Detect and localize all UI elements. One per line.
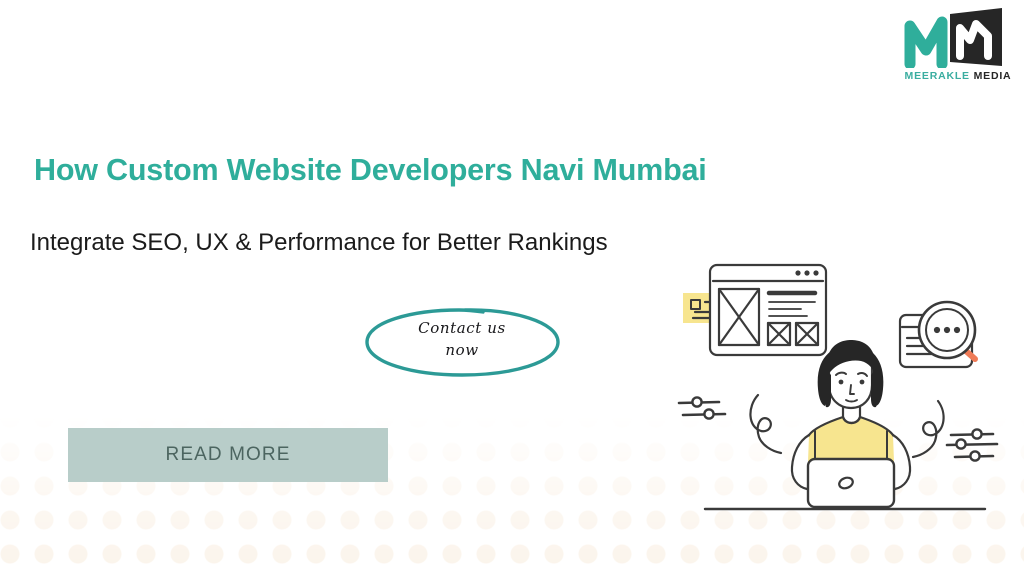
hero-illustration <box>655 245 1024 535</box>
read-more-button[interactable]: READ MORE <box>68 428 388 482</box>
page-title: How Custom Website Developers Navi Mumba… <box>34 152 884 189</box>
brand-logo[interactable]: MEERAKLE MEDIA <box>898 6 1018 82</box>
contact-badge-line1: Contact us <box>418 319 506 337</box>
brand-wordmark-primary: MEERAKLE <box>905 70 970 82</box>
brand-wordmark-secondary: MEDIA <box>974 70 1012 82</box>
browser-wireframe-icon <box>710 265 826 355</box>
meerakle-m-monogram-icon <box>898 6 1008 68</box>
contact-us-badge[interactable]: Contact us now <box>362 306 562 378</box>
page-subtitle: Integrate SEO, UX & Performance for Bett… <box>30 224 620 261</box>
slider-controls-left-icon <box>679 397 725 418</box>
slider-controls-right-icon <box>947 429 997 460</box>
search-magnifier-card-icon <box>900 302 975 367</box>
contact-us-badge-text: Contact us now <box>362 318 562 362</box>
contact-badge-line2: now <box>445 341 478 359</box>
decorative-swoosh-right-icon <box>913 401 944 457</box>
decorative-swoosh-left-icon <box>750 395 781 453</box>
brand-wordmark: MEERAKLE MEDIA <box>898 70 1018 82</box>
